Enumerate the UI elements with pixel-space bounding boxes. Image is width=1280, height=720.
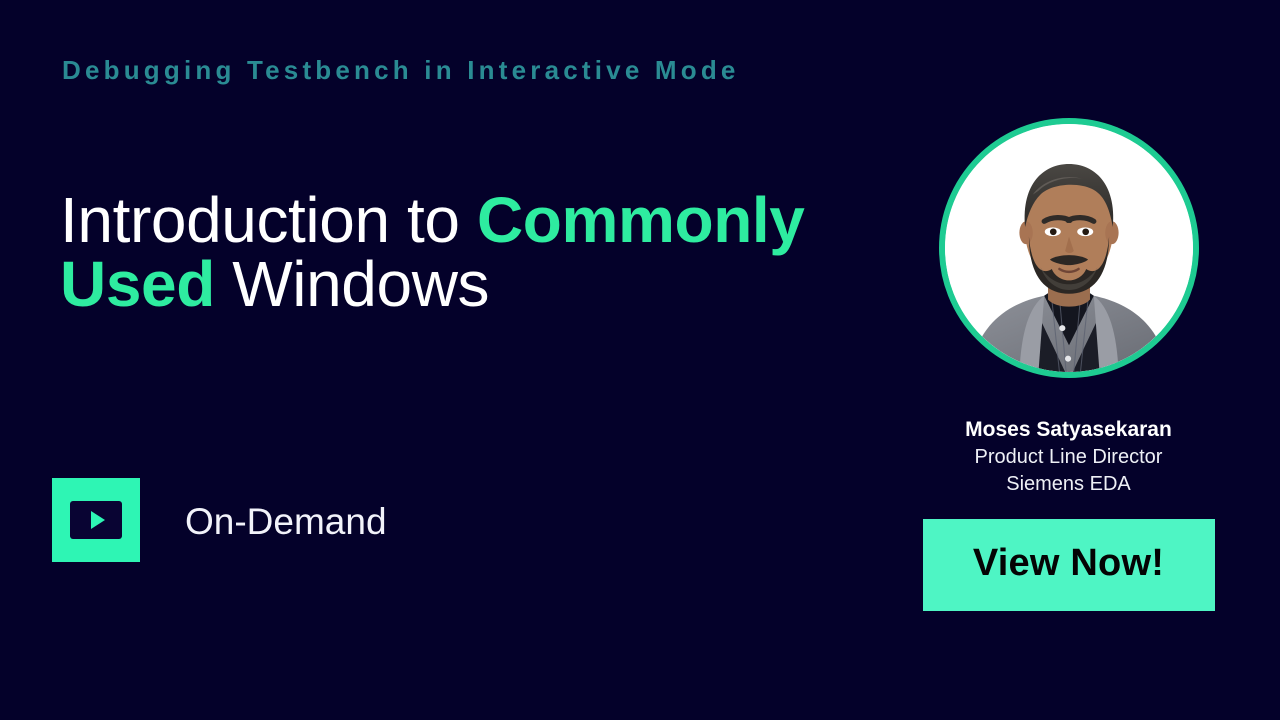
eyebrow-kicker: Debugging Testbench in Interactive Mode <box>62 56 740 86</box>
play-icon-screen <box>70 501 122 539</box>
availability-row: On-Demand <box>52 478 387 562</box>
availability-label: On-Demand <box>185 503 387 540</box>
webinar-promo-slide: Debugging Testbench in Interactive Mode … <box>0 0 1280 720</box>
speaker-info: Moses Satyasekaran Product Line Director… <box>965 416 1172 497</box>
view-now-label: View Now! <box>973 544 1164 582</box>
speaker-title: Product Line Director <box>965 444 1172 471</box>
speaker-panel: Moses Satyasekaran Product Line Director… <box>900 100 1232 611</box>
page-title: Introduction to Commonly Used Windows <box>60 188 820 316</box>
headline-plain-1: Introduction to <box>60 184 477 256</box>
speaker-org: Siemens EDA <box>965 471 1172 498</box>
headline-accent-1: Commonly <box>477 184 805 256</box>
headline-line-1: Introduction to Commonly <box>60 188 820 252</box>
headline-accent-2: Used <box>60 248 215 320</box>
avatar <box>939 118 1199 378</box>
speaker-name: Moses Satyasekaran <box>965 416 1172 444</box>
headline-line-2: Used Windows <box>60 252 820 316</box>
play-video-icon[interactable] <box>52 478 140 562</box>
play-triangle-icon <box>91 511 105 529</box>
headline-plain-2: Windows <box>215 248 489 320</box>
view-now-button[interactable]: View Now! <box>923 519 1215 611</box>
